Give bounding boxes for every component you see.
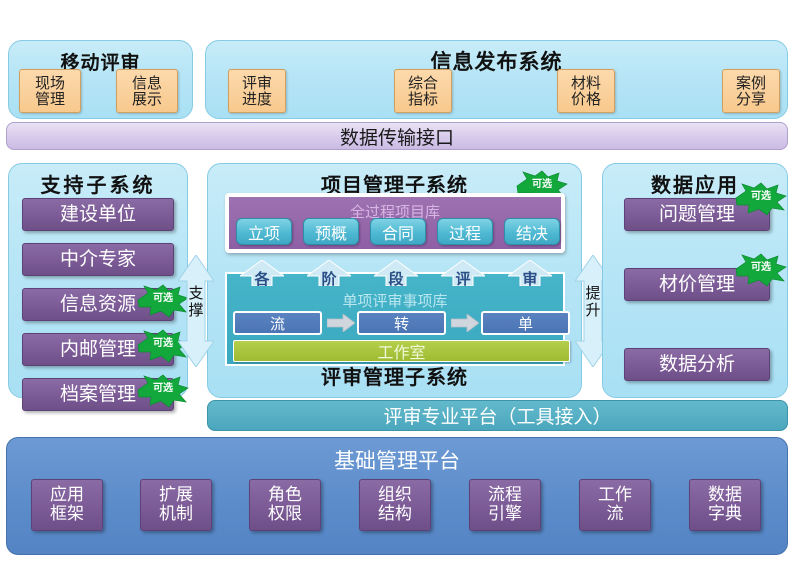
bar-professional-platform: 评审专业平台（工具接入） <box>207 400 788 431</box>
stage-label: 预概 <box>315 220 347 244</box>
chip-label: 工作 流 <box>598 486 632 523</box>
flow-box-liu[interactable]: 流 <box>233 311 322 335</box>
base-platform-title: 基础管理平台 <box>6 445 788 475</box>
chip-label: 流程 引擎 <box>488 486 522 523</box>
optional-badge-label: 可选 <box>734 262 788 274</box>
chip-review-progress[interactable]: 评审 进度 <box>228 69 286 113</box>
flow-label: 流 <box>270 313 285 334</box>
stage-label: 过程 <box>449 220 481 244</box>
flow-label: 单 <box>518 313 533 334</box>
stage-arrow-2: 阶 <box>307 260 351 286</box>
stage-arrow-label: 段 <box>374 271 418 287</box>
side-arrow-support: 支 撑 <box>178 255 214 371</box>
stage-arrow-4: 评 <box>441 260 485 286</box>
stage-button-estimate[interactable]: 预概 <box>303 218 359 245</box>
chip-label: 档案管理 <box>60 384 136 405</box>
right-arrow-icon <box>327 314 355 332</box>
chip-label: 角色 权限 <box>268 486 302 523</box>
chip-data-analysis[interactable]: 数据分析 <box>624 348 770 381</box>
chip-composite-index[interactable]: 综合 指标 <box>394 69 452 113</box>
stage-arrow-3: 段 <box>374 260 418 286</box>
optional-badge-label: 可选 <box>734 191 788 203</box>
optional-badge-material-price-management: 可选 <box>734 253 788 287</box>
optional-badge-issue-management: 可选 <box>734 182 788 216</box>
side-arrow-char-1: 支 <box>178 285 214 302</box>
flow-arrow-1 <box>327 314 355 336</box>
chip-info-display[interactable]: 信息 展示 <box>116 69 178 113</box>
stage-arrow-label: 阶 <box>307 271 351 287</box>
chip-label: 建设单位 <box>60 204 136 225</box>
chip-data-dictionary[interactable]: 数据 字典 <box>689 479 761 531</box>
stage-arrow-1: 各 <box>240 260 284 286</box>
stage-arrow-5: 审 <box>508 260 552 286</box>
chip-label: 材料 价格 <box>571 75 601 107</box>
side-arrow-char-2: 撑 <box>178 302 214 319</box>
stage-arrow-label: 各 <box>240 271 284 287</box>
chip-label: 材价管理 <box>659 274 735 295</box>
chip-label: 内邮管理 <box>60 339 136 360</box>
stage-button-settlement[interactable]: 结决 <box>504 218 560 245</box>
review-items-label: 单项评审事项库 <box>227 290 563 311</box>
panel-info-release: 信息发布系统 <box>205 40 788 119</box>
chip-label: 中介专家 <box>60 249 136 270</box>
bar-data-transfer-interface: 数据传输接口 <box>6 122 788 150</box>
chip-construction-unit[interactable]: 建设单位 <box>22 198 174 231</box>
flow-label: 转 <box>394 313 409 334</box>
chip-label: 信息资源 <box>60 294 136 315</box>
stage-label: 结决 <box>516 220 548 244</box>
optional-badge-label: 可选 <box>515 179 569 191</box>
chip-label: 数据 字典 <box>708 486 742 523</box>
bar-label: 工作室 <box>377 339 425 363</box>
stage-button-process[interactable]: 过程 <box>437 218 493 245</box>
chip-material-price[interactable]: 材料 价格 <box>557 69 615 113</box>
stage-label: 立项 <box>248 220 280 244</box>
chip-label: 问题管理 <box>659 204 735 225</box>
right-arrow-icon <box>451 314 479 332</box>
bar-workroom[interactable]: 工作室 <box>233 340 570 362</box>
flow-arrow-2 <box>451 314 479 336</box>
optional-badge-archive: 可选 <box>136 374 190 408</box>
chip-site-management[interactable]: 现场 管理 <box>19 69 81 113</box>
stage-button-initiation[interactable]: 立项 <box>236 218 292 245</box>
chip-process-engine[interactable]: 流程 引擎 <box>469 479 541 531</box>
side-arrow-label: 支 撑 <box>178 285 214 319</box>
stage-arrow-label: 审 <box>508 271 552 287</box>
bar-label: 数据传输接口 <box>340 123 454 150</box>
chip-label: 现场 管理 <box>35 75 65 107</box>
stage-arrow-label: 评 <box>441 271 485 287</box>
chip-label: 综合 指标 <box>408 75 438 107</box>
optional-badge-label: 可选 <box>136 383 190 395</box>
chip-label: 评审 进度 <box>242 75 272 107</box>
chip-label: 数据分析 <box>659 354 735 375</box>
stage-button-contract[interactable]: 合同 <box>370 218 426 245</box>
flow-box-dan[interactable]: 单 <box>481 311 570 335</box>
info-release-title: 信息发布系统 <box>206 46 787 76</box>
chip-label: 案例 分享 <box>736 75 766 107</box>
chip-role-permission[interactable]: 角色 权限 <box>249 479 321 531</box>
stage-label: 合同 <box>382 220 414 244</box>
chip-case-sharing[interactable]: 案例 分享 <box>722 69 780 113</box>
architecture-diagram: 移动评审 现场 管理 信息 展示 信息发布系统 评审 进度 综合 指标 材料 价… <box>0 0 794 581</box>
chip-intermediary-expert[interactable]: 中介专家 <box>22 243 174 276</box>
chip-label: 应用 框架 <box>50 486 84 523</box>
support-subsystem-title: 支持子系统 <box>9 169 187 198</box>
flow-box-zhuan[interactable]: 转 <box>357 311 446 335</box>
chip-label: 组织 结构 <box>378 486 412 523</box>
chip-organization-structure[interactable]: 组织 结构 <box>359 479 431 531</box>
chip-workflow[interactable]: 工作 流 <box>579 479 651 531</box>
bar-label: 评审专业平台（工具接入） <box>383 402 611 429</box>
chip-application-framework[interactable]: 应用 框架 <box>31 479 103 531</box>
chip-extension-mechanism[interactable]: 扩展 机制 <box>140 479 212 531</box>
chip-label: 扩展 机制 <box>159 486 193 523</box>
chip-label: 信息 展示 <box>132 75 162 107</box>
